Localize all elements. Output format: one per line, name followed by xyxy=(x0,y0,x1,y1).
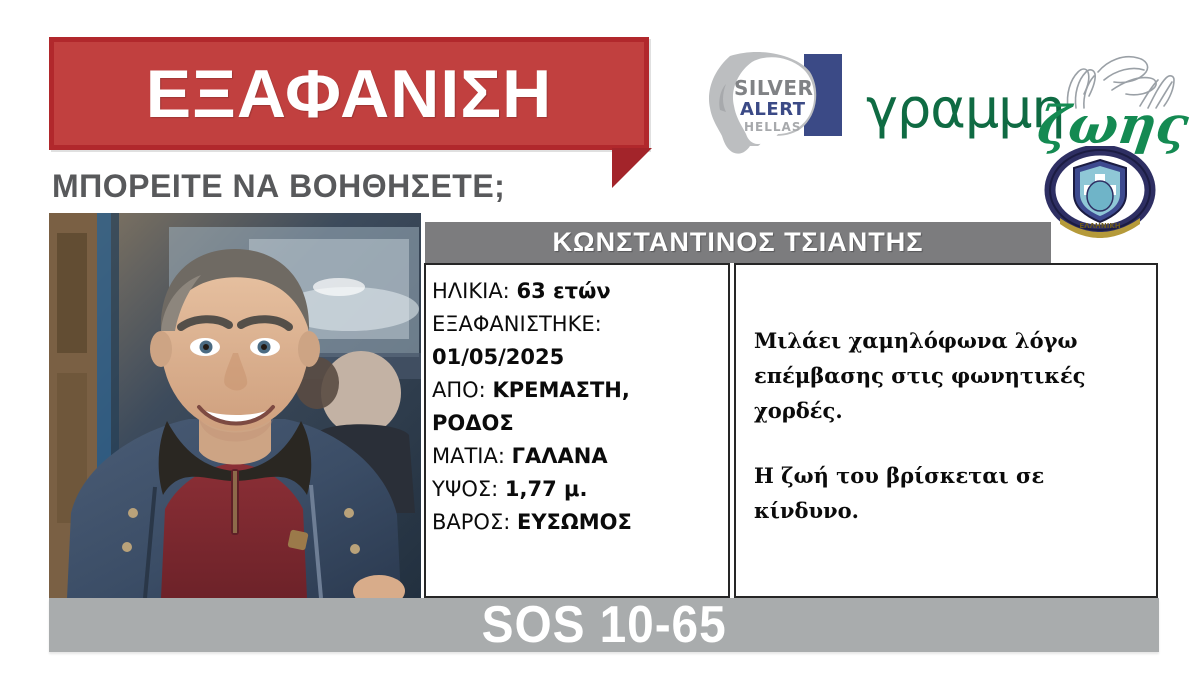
detail-row-from-cont: ΡΟΔΟΣ xyxy=(432,407,728,440)
detail-value-weight: ΕΥΣΩΜΟΣ xyxy=(517,510,632,534)
detail-row-weight: ΒΑΡΟΣ: ΕΥΣΩΜΟΣ xyxy=(432,506,728,539)
silver-alert-logo-icon: SILVER ALERT HELLAS xyxy=(700,48,865,163)
silver-alert-poster: ΕΞΑΦΑΝΙΣΗ ΜΠΟΡΕΙΤΕ ΝΑ ΒΟΗΘΗΣΕΤΕ; SILVER … xyxy=(0,0,1200,675)
alert-banner-label: ΕΞΑΦΑΝΙΣΗ xyxy=(54,42,644,145)
hotline-number: SOS 10-65 xyxy=(482,599,727,651)
detail-row-from: ΑΠΟ: ΚΡΕΜΑΣΤΗ, xyxy=(432,374,728,407)
detail-row-height: ΥΨΟΣ: 1,77 μ. xyxy=(432,473,728,506)
person-details-panel: ΗΛΙΚΙΑ: 63 ετών ΕΞΑΦΑΝΙΣΤΗΚΕ: 01/05/2025… xyxy=(424,263,730,598)
grammi-zois-word: γραμμη xyxy=(866,82,1065,136)
svg-text:SILVER: SILVER xyxy=(734,76,813,100)
detail-value-date: 01/05/2025 xyxy=(432,345,564,369)
svg-text:ALERT: ALERT xyxy=(740,99,806,120)
detail-label-eyes: ΜΑΤΙΑ: xyxy=(432,444,505,468)
detail-label-height: ΥΨΟΣ: xyxy=(432,477,498,501)
detail-value-from: ΚΡΕΜΑΣΤΗ, xyxy=(492,378,629,402)
detail-row-eyes: ΜΑΤΙΑ: ΓΑΛΑΝΑ xyxy=(432,440,728,473)
person-notes-panel: Μιλάει χαμηλόφωνα λόγω επέμβασης στις φω… xyxy=(734,263,1158,598)
poster-header: ΕΞΑΦΑΝΙΣΗ ΜΠΟΡΕΙΤΕ ΝΑ ΒΟΗΘΗΣΕΤΕ; SILVER … xyxy=(0,0,1200,205)
detail-value-eyes: ΓΑΛΑΝΑ xyxy=(512,444,608,468)
photo-illustration xyxy=(49,213,421,598)
detail-row-date: 01/05/2025 xyxy=(432,341,728,374)
svg-text:HELLAS: HELLAS xyxy=(744,120,801,134)
person-name: ΚΩΝΣΤΑΝΤΙΝΟΣ ΤΣΙΑΝΤΗΣ xyxy=(553,229,924,256)
person-name-bar: ΚΩΝΣΤΑΝΤΙΝΟΣ ΤΣΙΑΝΤΗΣ xyxy=(425,222,1051,263)
detail-label-disappeared: ΕΞΑΦΑΝΙΣΤΗΚΕ: xyxy=(432,312,602,336)
police-badge-icon: ΕΛΛΗΝΙΚΗ xyxy=(1040,146,1160,238)
poster-subtitle: ΜΠΟΡΕΙΤΕ ΝΑ ΒΟΗΘΗΣΕΤΕ; xyxy=(52,167,652,205)
detail-row-disappeared: ΕΞΑΦΑΝΙΣΤΗΚΕ: xyxy=(432,308,728,341)
note-paragraph-1: Μιλάει χαμηλόφωνα λόγω επέμβασης στις φω… xyxy=(754,323,1138,428)
detail-value-age: 63 ετών xyxy=(516,279,610,303)
detail-label-age: ΗΛΙΚΙΑ: xyxy=(432,279,510,303)
hotline-footer: SOS 10-65 xyxy=(49,598,1159,652)
grammi-zois-script: ζωης xyxy=(1034,100,1191,152)
detail-row-age: ΗΛΙΚΙΑ: 63 ετών xyxy=(432,275,728,308)
svg-text:ΕΛΛΗΝΙΚΗ: ΕΛΛΗΝΙΚΗ xyxy=(1079,222,1120,230)
alert-banner: ΕΞΑΦΑΝΙΣΗ xyxy=(49,37,649,150)
grammi-zois-logo: γραμμη ζωης xyxy=(866,52,1166,152)
silver-alert-logo: SILVER ALERT HELLAS xyxy=(700,48,865,163)
hellenic-police-badge: ΕΛΛΗΝΙΚΗ xyxy=(1040,146,1160,238)
detail-label-from: ΑΠΟ: xyxy=(432,378,486,402)
detail-value-from-cont: ΡΟΔΟΣ xyxy=(432,411,514,435)
detail-label-weight: ΒΑΡΟΣ: xyxy=(432,510,510,534)
note-paragraph-2: Η ζωή του βρίσκεται σε κίνδυνο. xyxy=(754,458,1138,528)
missing-person-photo xyxy=(49,213,421,598)
detail-value-height: 1,77 μ. xyxy=(505,477,588,501)
